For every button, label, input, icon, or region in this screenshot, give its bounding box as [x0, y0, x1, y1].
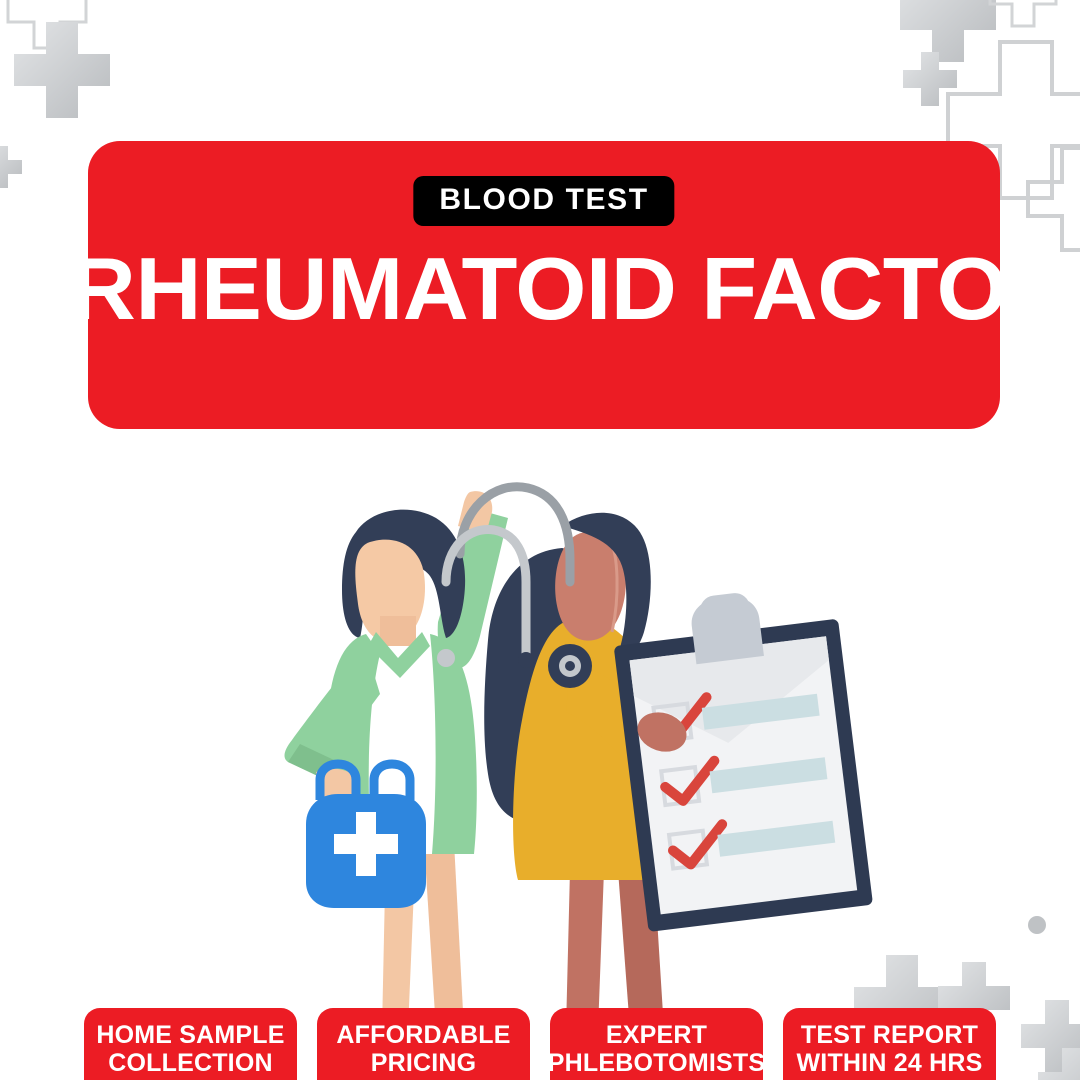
blood-test-tag-label: BLOOD TEST [439, 185, 648, 215]
badge-home-sample-collection[interactable]: HOME SAMPLE COLLECTION [84, 1008, 297, 1080]
badge-label: TEST REPORT WITHIN 24 HRS [797, 1021, 983, 1077]
healthcare-workers-svg [270, 470, 890, 1030]
cross-top-left-filled-icon [14, 22, 110, 118]
badge-line-1: EXPERT [606, 1021, 707, 1049]
page-title: RHEUMATOID FACTOR [70, 245, 1018, 333]
feature-badges: HOME SAMPLE COLLECTION AFFORDABLE PRICIN… [0, 1008, 1080, 1080]
cross-top-right-small-filled-icon [903, 52, 957, 106]
cross-top-right-outline-small-icon [990, 0, 1056, 26]
clipboard-clip-icon [689, 592, 764, 664]
badge-line-1: TEST REPORT [801, 1021, 978, 1049]
badge-line-2: COLLECTION [108, 1049, 273, 1077]
badge-label: AFFORDABLE PRICING [336, 1021, 510, 1077]
decorative-dot-icon [1028, 916, 1046, 934]
cross-top-left-outline-icon [8, 0, 86, 48]
badge-expert-phlebotomists[interactable]: EXPERT PHLEBOTOMISTS [550, 1008, 763, 1080]
illustration [270, 470, 890, 1030]
cross-top-right-filled-icon [900, 0, 996, 62]
nurse-leg-left-icon [566, 870, 604, 1030]
badge-label: HOME SAMPLE COLLECTION [96, 1021, 284, 1077]
badge-line-2: WITHIN 24 HRS [797, 1049, 983, 1077]
doctor-coat-right-icon [430, 634, 477, 854]
stethoscope-eartip-right-icon [518, 652, 534, 668]
stethoscope-eartip-left-icon [437, 649, 455, 667]
badge-label: EXPERT PHLEBOTOMISTS [548, 1021, 765, 1077]
badge-line-1: AFFORDABLE [336, 1021, 510, 1049]
poster-canvas: BLOOD TEST RHEUMATOID FACTOR [0, 0, 1080, 1080]
badge-test-report-24-hrs[interactable]: TEST REPORT WITHIN 24 HRS [783, 1008, 996, 1080]
badge-line-2: PHLEBOTOMISTS [548, 1049, 765, 1077]
header-banner: BLOOD TEST RHEUMATOID FACTOR [88, 141, 1000, 429]
badge-affordable-pricing[interactable]: AFFORDABLE PRICING [317, 1008, 530, 1080]
doctor-neck-icon [380, 616, 416, 646]
badge-line-1: HOME SAMPLE [96, 1021, 284, 1049]
cross-left-edge-small-icon [0, 146, 22, 188]
cross-right-edge-outline-icon [1028, 148, 1080, 250]
badge-line-2: PRICING [371, 1049, 477, 1077]
doctor-leg-right-icon [424, 842, 464, 1030]
blood-test-tag: BLOOD TEST [413, 176, 674, 226]
stethoscope-chestpiece-center-icon [565, 661, 575, 671]
clipboard [609, 583, 873, 932]
